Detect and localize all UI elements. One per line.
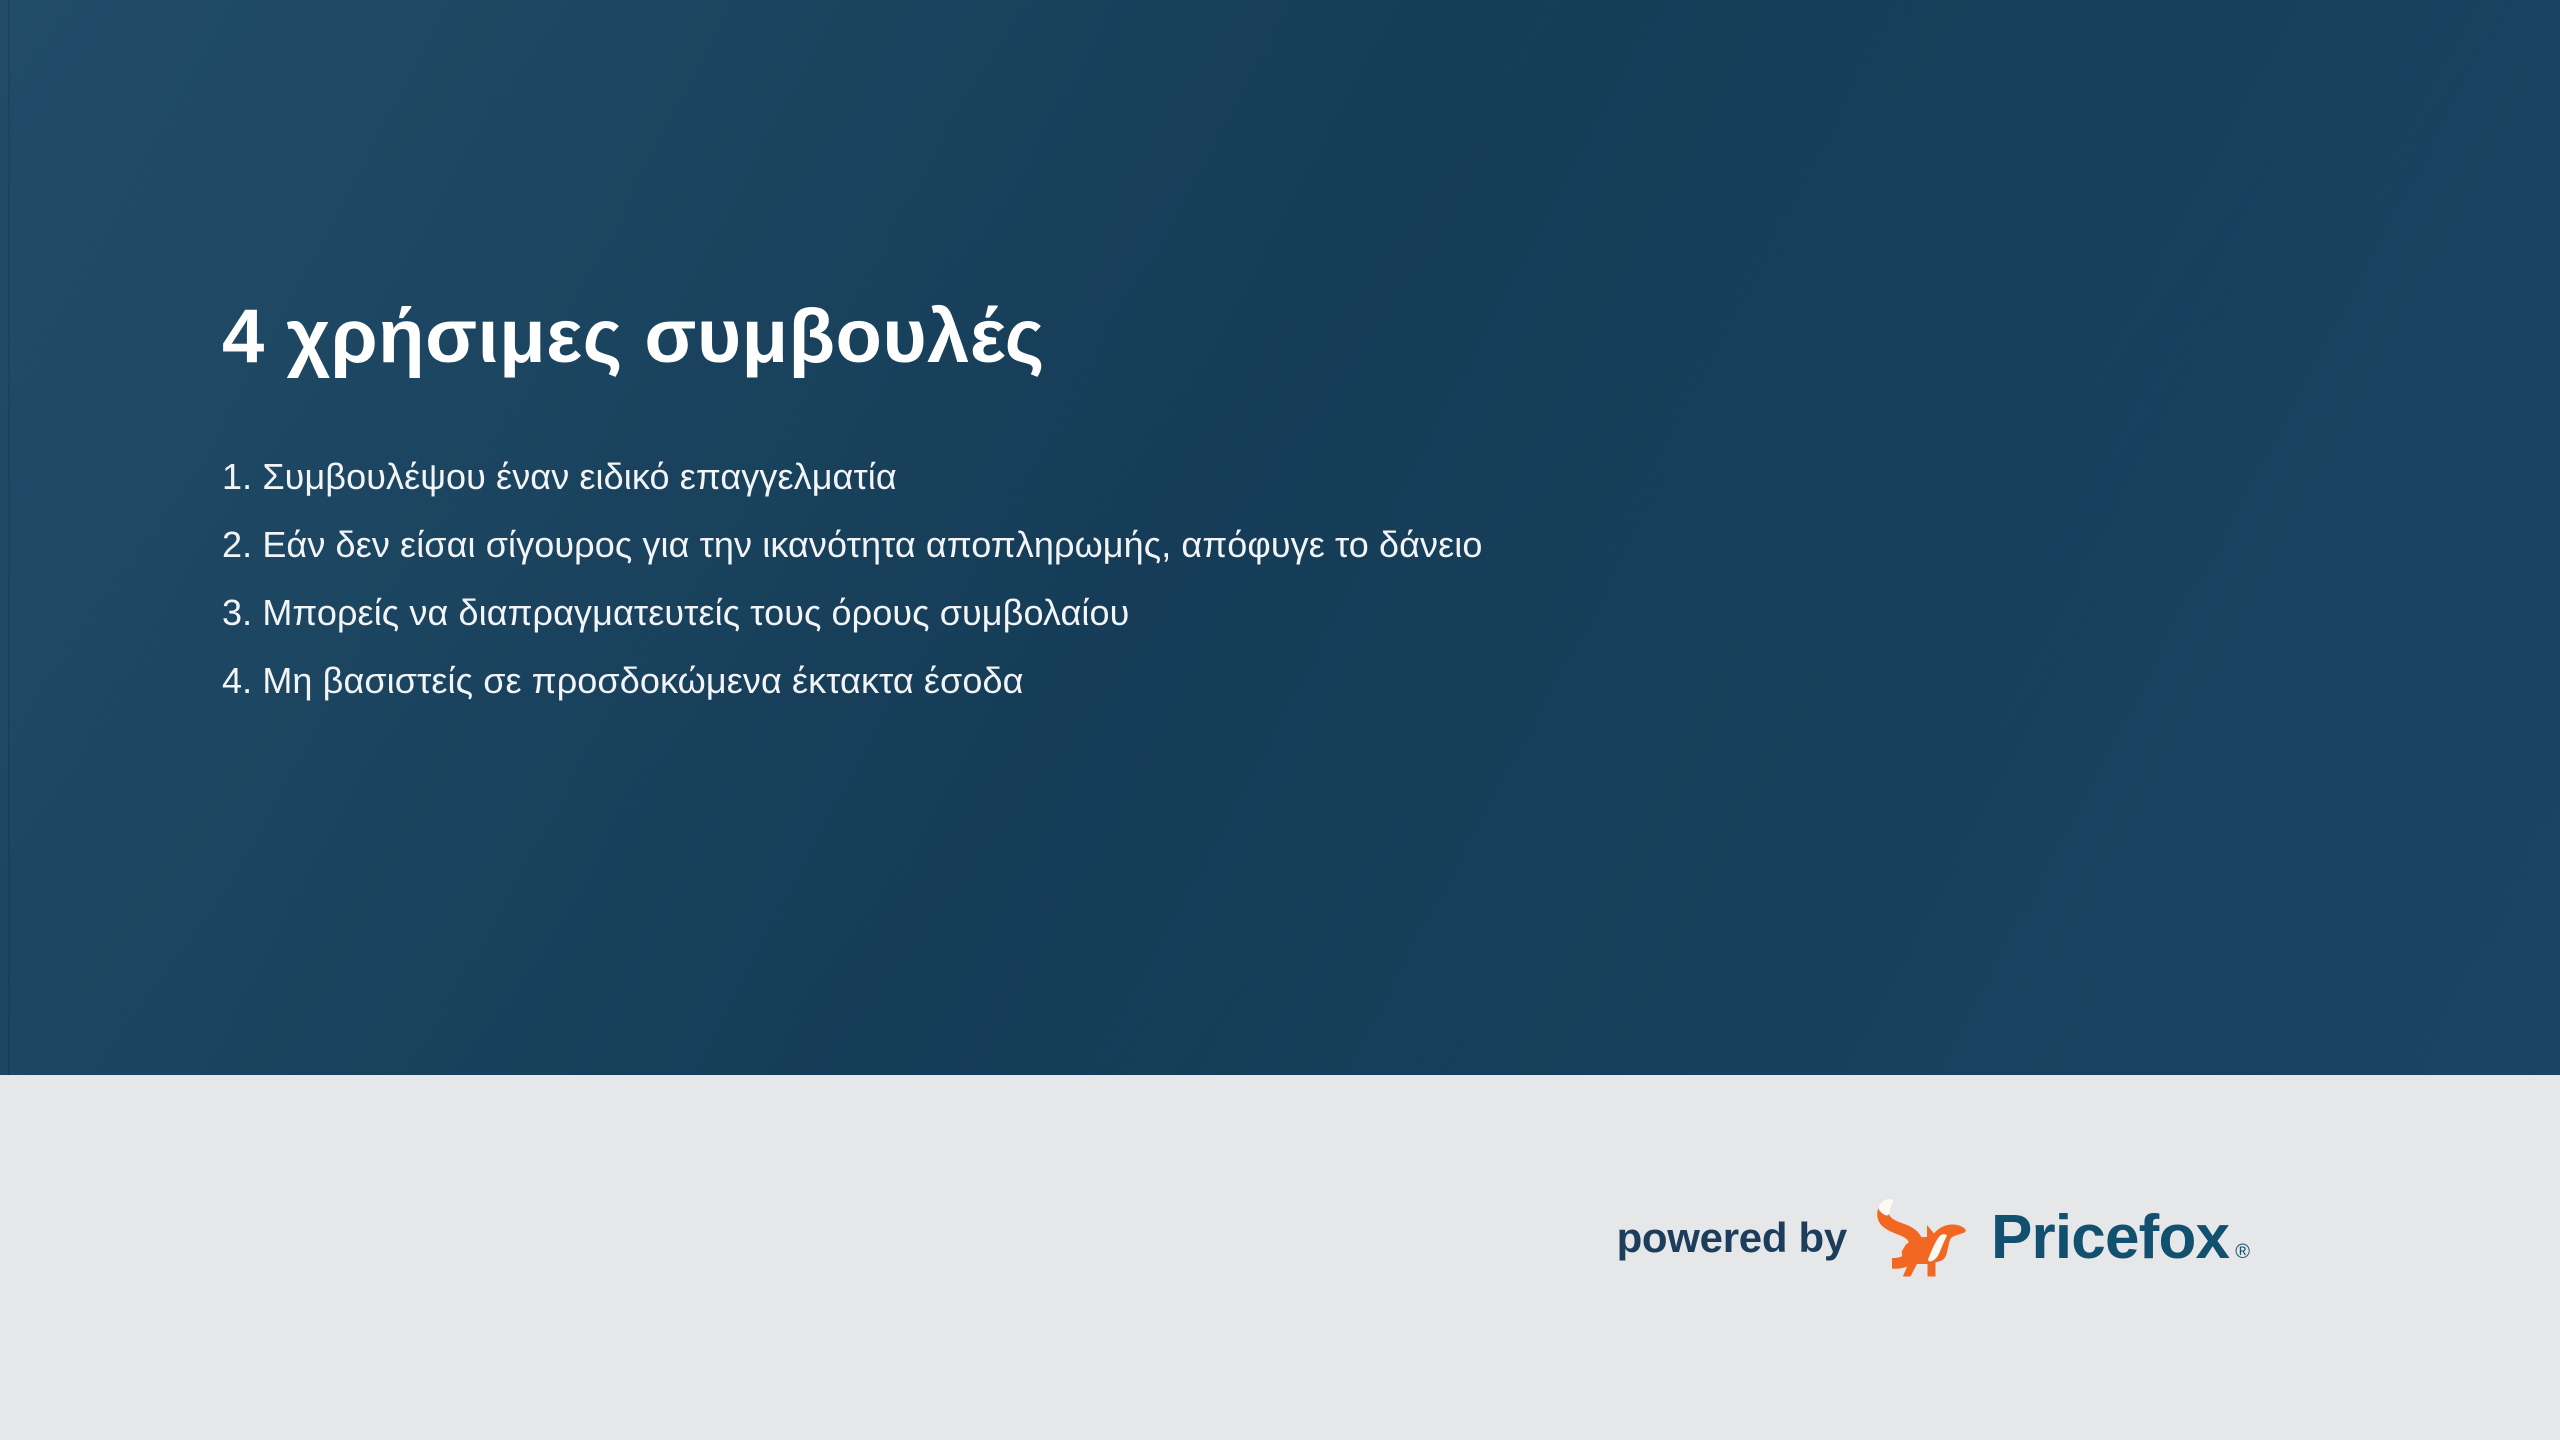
list-item: 3. Μπορείς να διαπραγματευτείς τους όρου… <box>222 579 1483 647</box>
brand-lockup: Pricefox ® <box>1991 1207 2250 1269</box>
registered-trademark-icon: ® <box>2235 1242 2250 1262</box>
list-item: 4. Μη βασιστείς σε προσδοκώμενα έκτακτα … <box>222 647 1483 715</box>
page-title: 4 χρήσιμες συμβουλές <box>222 296 1045 378</box>
list-item: 1. Συμβουλέψου έναν ειδικό επαγγελματία <box>222 443 1483 511</box>
presentation-slide: 4 χρήσιμες συμβουλές 1. Συμβουλέψου έναν… <box>0 0 2560 1440</box>
powered-by-label: powered by <box>1617 1217 1847 1259</box>
powered-by-pricefox-logo: powered by Pricefox ® <box>1617 1193 2250 1283</box>
tips-list: 1. Συμβουλέψου έναν ειδικό επαγγελματία … <box>222 443 1483 715</box>
brand-name: Pricefox <box>1991 1207 2229 1269</box>
slide-footer: powered by Pricefox ® <box>0 1075 2560 1440</box>
slide-content-area: 4 χρήσιμες συμβουλές 1. Συμβουλέψου έναν… <box>0 0 2560 1075</box>
list-item: 2. Εάν δεν είσαι σίγουρος για την ικανότ… <box>222 511 1483 579</box>
fox-logo-icon <box>1865 1192 1973 1284</box>
